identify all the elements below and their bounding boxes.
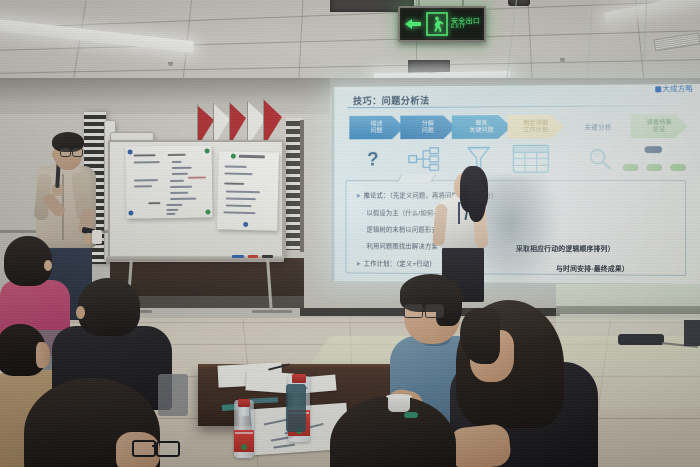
chair-back (286, 384, 306, 432)
bullet-dot-icon: · (362, 211, 364, 217)
process-step-2: 分解问题 (400, 115, 455, 139)
bottle-cap (238, 399, 250, 407)
black-polo-hair (78, 278, 140, 336)
magnet (128, 150, 133, 155)
marker-pen[interactable] (248, 255, 258, 258)
process-arrow-row: 描述问题 分解问题 聚焦关键问题 制定详细工作计划 关键分析 调查结果论证 (349, 114, 686, 145)
emergency-exit-sign: 安全出口 EXIT (398, 6, 486, 42)
step-6-line1: 调查结果 (647, 119, 672, 126)
slide-bullet-5: ➤工作计划：（定义+行动） (356, 258, 436, 268)
pill-dark (644, 146, 662, 153)
table-grid-icon (511, 144, 550, 174)
magnet (205, 209, 210, 214)
magnet (231, 154, 236, 159)
seated-attendee-foreground-glasses (24, 378, 184, 467)
marker-pen[interactable] (262, 255, 273, 258)
facilitator-ear (52, 150, 58, 159)
pill-green (670, 164, 686, 171)
process-step-6: 调查结果论证 (631, 114, 688, 138)
flag-pole (263, 99, 264, 145)
av-equipment-box (684, 320, 700, 346)
wristband (404, 412, 418, 418)
bullet-arrow-icon: ➤ (356, 194, 361, 200)
step-6-line2: 论证 (647, 126, 672, 133)
question-mark-icon: ? (362, 147, 383, 172)
flipchart-sheet-left (126, 145, 213, 218)
cup-rim (386, 394, 412, 399)
ceiling-tile-opening (508, 0, 530, 6)
slide-overflow-text-2: 与时间安排-最终成果） (556, 263, 629, 273)
tan-attendee-face-edge (36, 342, 50, 368)
pill-green (646, 164, 662, 171)
black-top-hair-front (460, 308, 500, 364)
seated-attendee-black-top (450, 300, 620, 467)
process-step-3: 聚焦关键问题 (452, 115, 512, 139)
bullet-arrow-icon: ➤ (356, 262, 361, 268)
step-1-line1: 描述 (371, 121, 383, 128)
step-3-line2: 关键问题 (469, 127, 494, 134)
flag-pole (213, 103, 214, 145)
training-room-photo: 安全出口 EXIT (0, 0, 700, 467)
marker-pen[interactable] (232, 255, 244, 258)
bottle-neck (239, 407, 249, 416)
hvac-grille (653, 32, 700, 51)
magnet (243, 222, 248, 227)
flag-pole (229, 102, 230, 144)
bottle-brand-mark (241, 444, 247, 450)
exit-sign-text: 安全出口 EXIT (450, 18, 480, 31)
glasses (132, 440, 178, 454)
process-step-1: 描述问题 (349, 116, 404, 140)
slide-title: 技巧：问题分析法 (353, 93, 430, 107)
company-watermark: 大成方略 (655, 84, 693, 94)
arrow-left-icon (402, 10, 424, 38)
sprinkler-head (168, 62, 173, 66)
pink-attendee-ear (44, 260, 52, 271)
watermark-text: 大成方略 (662, 84, 693, 93)
magnifier-icon (587, 146, 613, 172)
presenter-lanyard (458, 202, 460, 224)
process-step-4: 制定详细工作计划 (508, 115, 564, 139)
exit-label-en: EXIT (451, 25, 480, 30)
black-polo-ear (76, 306, 85, 319)
water-bottle[interactable] (234, 400, 254, 458)
flipchart-sheet-right (217, 151, 279, 230)
process-step-5: 关键分析 (568, 114, 629, 138)
step-4-line2: 工作计划 (523, 127, 548, 134)
step-2-line1: 分解 (422, 120, 434, 127)
pill-green (623, 164, 639, 171)
magnet (205, 148, 210, 153)
glasses (404, 304, 444, 317)
bottle-cap (292, 374, 306, 383)
flag-pole (247, 101, 248, 145)
magnet (128, 210, 133, 215)
glasses (60, 148, 84, 156)
process-icon-row: ? (349, 142, 686, 176)
bullet-dot-icon: · (362, 228, 364, 234)
presentation-clicker[interactable] (92, 230, 102, 244)
whiteboard-stand-foot (252, 310, 292, 313)
presenter-hair-back (468, 182, 486, 222)
bullet-dot-icon: · (362, 244, 364, 250)
step-2-line2: 问题 (422, 127, 434, 134)
slide-bullet-4: ·利用问题图找出解决方案 (362, 240, 438, 250)
pill-row-icon (349, 142, 686, 143)
watermark-square-icon (655, 86, 661, 92)
door-frame (300, 120, 304, 252)
bottle-label (234, 430, 254, 452)
step-1-line2: 问题 (371, 128, 383, 135)
running-man-icon (424, 10, 450, 38)
flag-pole (197, 104, 198, 144)
step-5-label: 关键分析 (584, 121, 611, 131)
av-equipment-case (618, 334, 664, 345)
